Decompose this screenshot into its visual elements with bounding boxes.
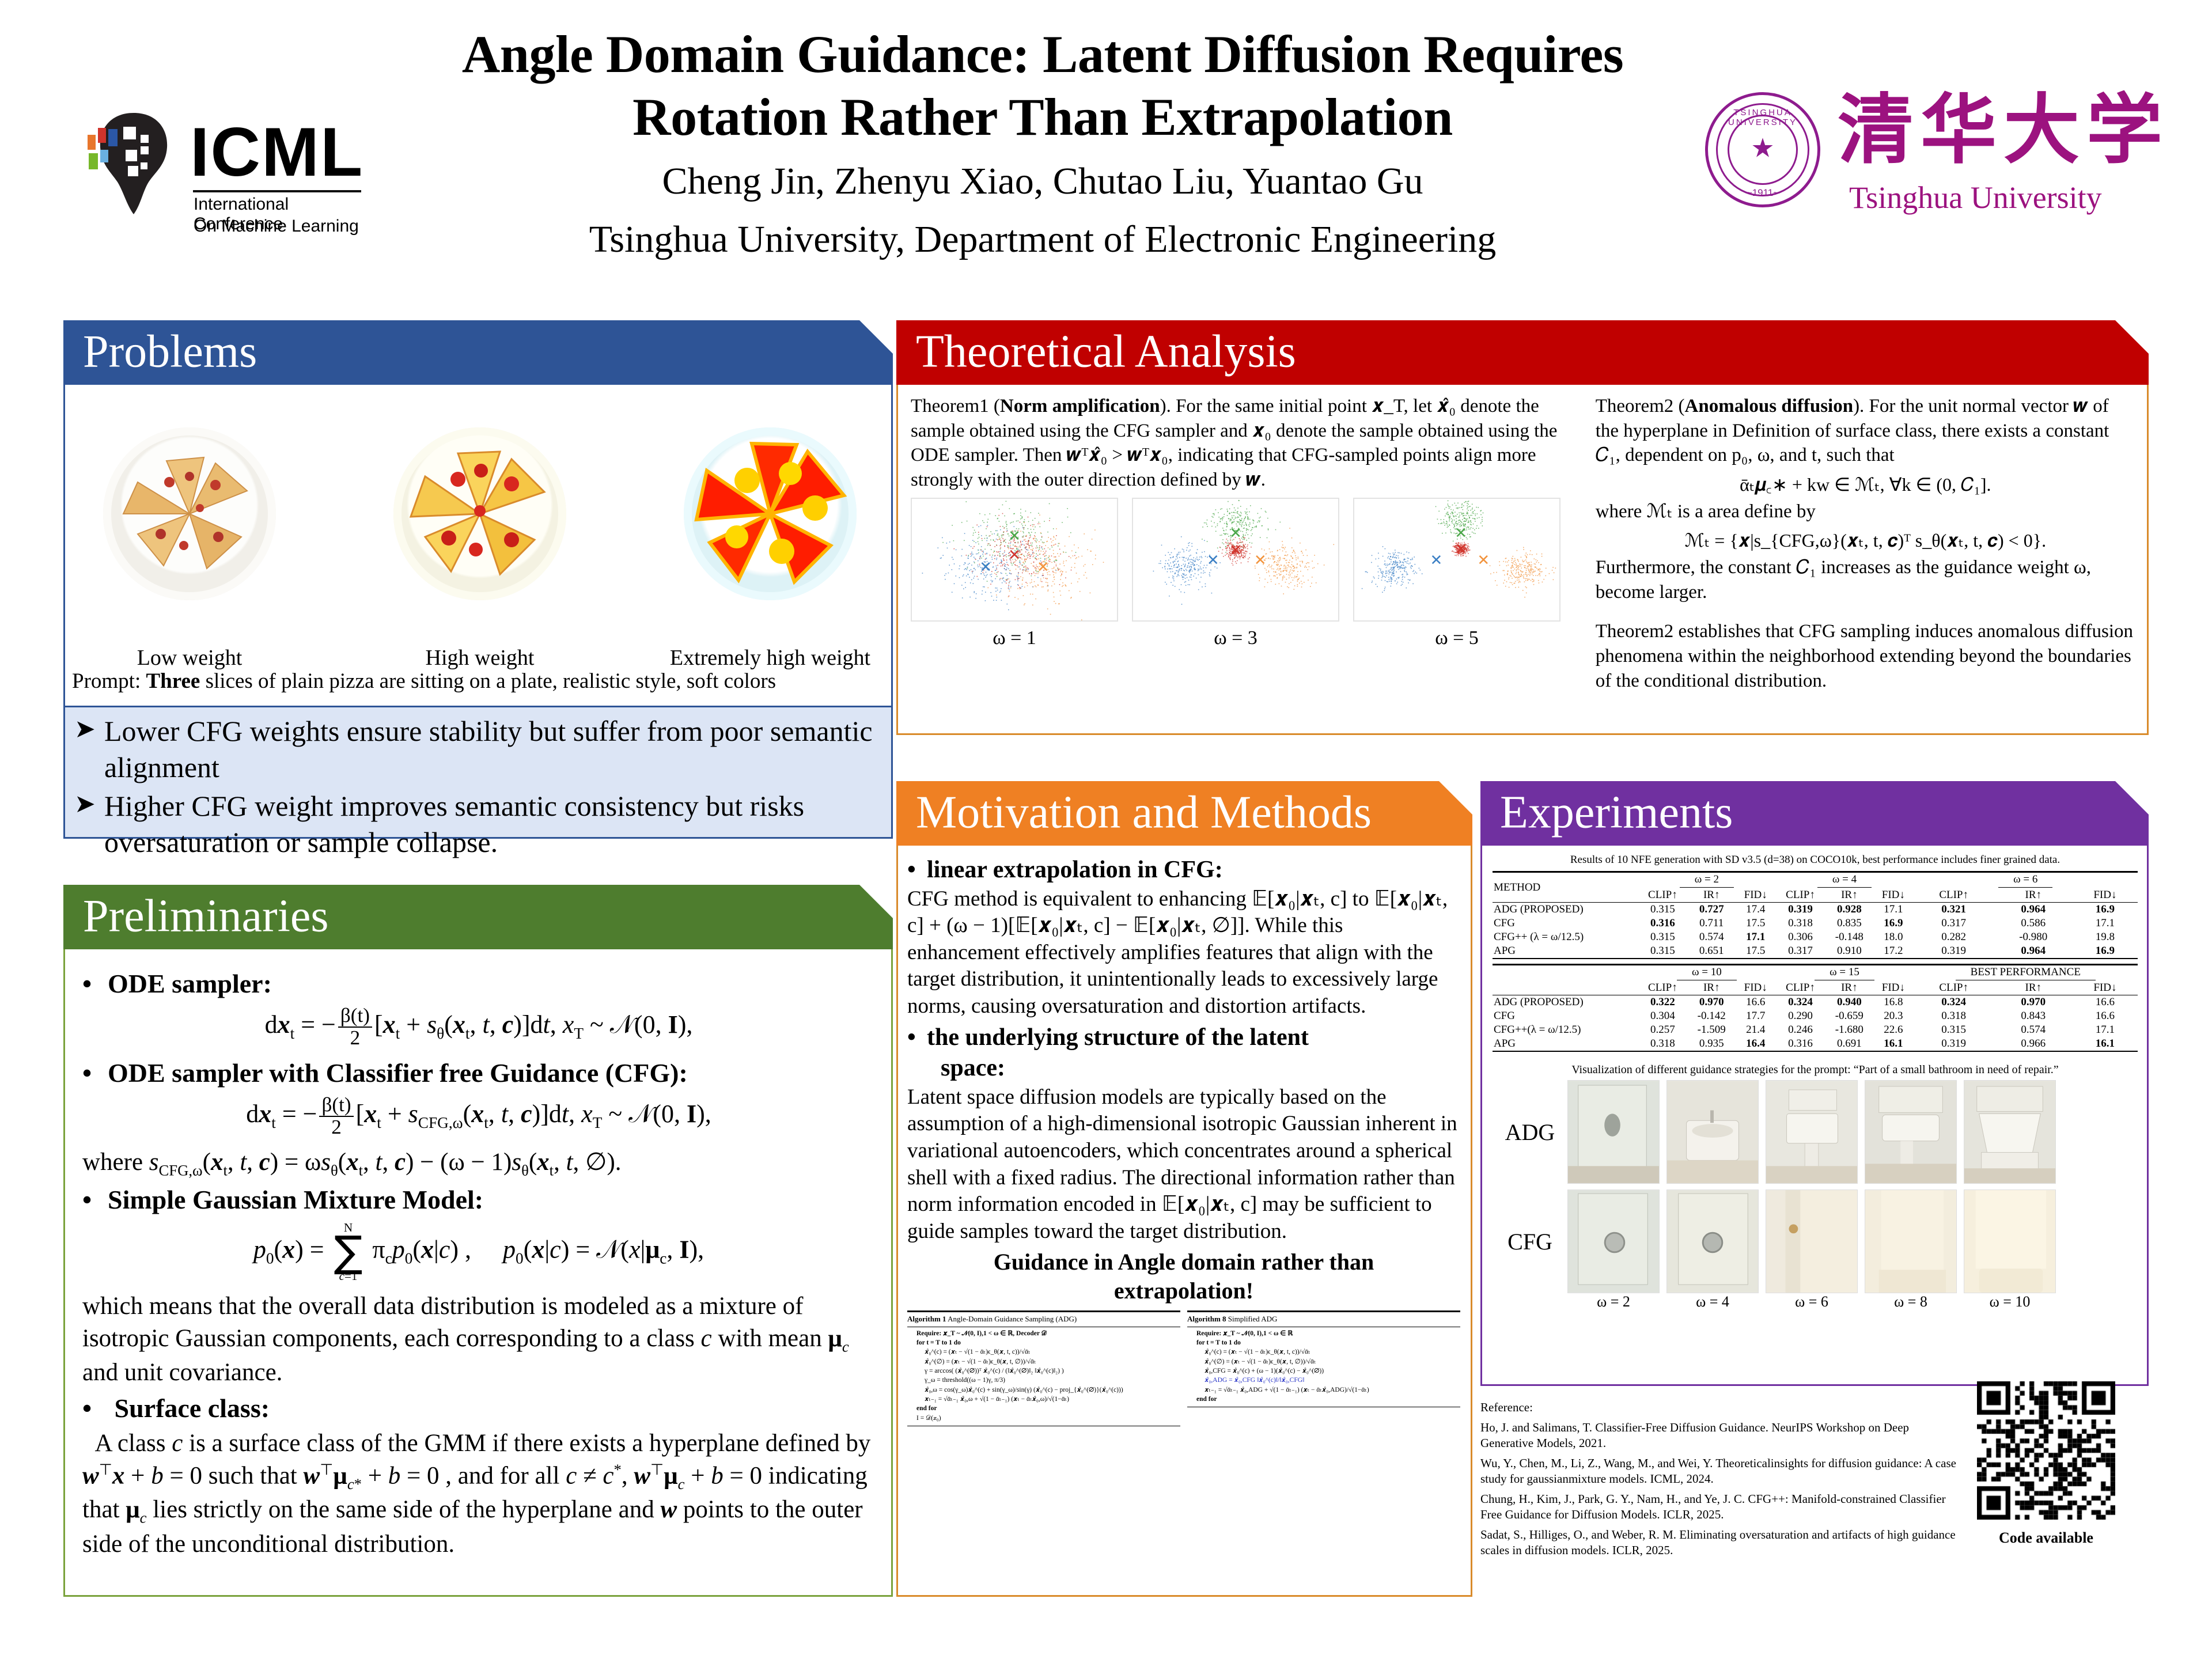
icml-logo: ICML International Conference On Machine…: [81, 109, 369, 219]
scatter-caption-omega-1: ω = 1: [911, 627, 1118, 649]
table-cell-value: 0.711: [1687, 916, 1736, 930]
table-cell-value: 16.6: [1736, 995, 1775, 1010]
qr-code-block[interactable]: Code available: [1977, 1381, 2127, 1547]
list-item: ➤ Lower CFG weights ensure stability but…: [74, 713, 881, 786]
table-cell-method: ADG (PROPOSED): [1493, 903, 1638, 917]
table-row: CFG0.3160.71117.50.3180.83516.90.3170.58…: [1493, 916, 2138, 930]
metric-header: IR↑: [1687, 888, 1736, 903]
theorem2-equation-1: ᾱₜ𝝁꜀∗ + kw ∈ ℳₜ, ∀k ∈ (0, 𝐶₁].: [1596, 474, 2135, 496]
table-cell-value: 16.6: [2073, 995, 2138, 1010]
experiments-header: Experiments: [1480, 781, 2149, 846]
table-cell-value: 0.586: [1994, 916, 2073, 930]
table-cell-value: -1.680: [1825, 1023, 1874, 1037]
experiments-title: Experiments: [1500, 789, 1733, 835]
equation-where-cfg: where sCFG,ω(xt, t, c) = ωsθ(xt, t, c) −…: [82, 1146, 875, 1180]
prelim-b2-label: ODE sampler with Classifier free Guidanc…: [108, 1058, 688, 1088]
metric-header: FID↓: [1736, 888, 1775, 903]
table-cell-value: 0.319: [1775, 903, 1825, 917]
bathroom-visualization-grid: ADGCFGω = 2ω = 4ω = 6ω = 8ω = 10: [1493, 1080, 2138, 1310]
cluster-center-marker-green: ✕: [1455, 525, 1467, 540]
table-cell-value: 0.970: [1994, 995, 2073, 1010]
visualization-caption: Visualization of different guidance stra…: [1493, 1063, 2138, 1077]
table-cell-value: 0.691: [1825, 1037, 1874, 1051]
cluster-center-marker-blue: ✕: [1207, 552, 1219, 567]
table-cell-value: 0.574: [1687, 930, 1736, 944]
theory-right-column: Theorem2 (Anomalous diffusion). For the …: [1588, 385, 2147, 733]
prelim-b4-label: Surface class:: [115, 1393, 270, 1423]
viz-omega-labels: ω = 2ω = 4ω = 6ω = 8ω = 10: [1567, 1293, 2138, 1310]
table-cell-value: 16.1: [2073, 1037, 2138, 1051]
preliminaries-body: •ODE sampler: dxt = −β(t)2[xt + sθ(xt, t…: [63, 949, 893, 1597]
metric-header: FID↓: [2073, 888, 2138, 903]
table-cell-value: 0.317: [1914, 916, 1994, 930]
table-row: APG0.3180.93516.40.3160.69116.10.3190.96…: [1493, 1037, 2138, 1051]
bullet-dot-icon: •: [82, 1057, 108, 1089]
tsinghua-logo: TSINGHUA UNIVERSITY ★ ~1911~ 清华大学 Tsingh…: [1705, 92, 2131, 225]
table-cell-method: CFG: [1493, 916, 1638, 930]
theorem2-conclusion: Theorem2 establishes that CFG sampling i…: [1596, 619, 2135, 693]
table-cell-value: 0.651: [1687, 944, 1736, 959]
theory-title: Theoretical Analysis: [916, 328, 1296, 374]
tsinghua-seal-icon: TSINGHUA UNIVERSITY ★ ~1911~: [1705, 92, 1820, 207]
equation-ode-sampler: dxt = −β(t)2[xt + sθ(xt, t, c)]dt, xT ~ …: [82, 1005, 875, 1049]
table-cell-value: 0.319: [1914, 1037, 1994, 1051]
table-cell-value: 0.727: [1687, 903, 1736, 917]
theorem2-furthermore: Furthermore, the constant 𝐶₁ increases a…: [1596, 555, 2135, 604]
group-header: ω = 2: [1638, 872, 1775, 889]
table-cell-value: 16.8: [1873, 995, 1913, 1010]
theory-body: Theorem1 (Norm amplification). For the s…: [896, 385, 2149, 735]
pizza-caption-high: High weight: [363, 645, 596, 671]
table-cell-value: 16.6: [2073, 1009, 2138, 1023]
bathroom-image-adg-2: [1666, 1080, 1759, 1184]
bathroom-image-cfg-5: [1964, 1190, 2056, 1293]
table-cell-value: 21.4: [1736, 1023, 1775, 1037]
pizza-image-extreme: Extremely high weight: [654, 393, 887, 635]
table-cell-value: 0.246: [1775, 1023, 1825, 1037]
cluster-center-marker-green: ✕: [1008, 528, 1021, 543]
results-table: METHODω = 2ω = 4ω = 6CLIP↑IR↑FID↓CLIP↑IR…: [1493, 871, 2138, 1055]
table-cell-value: 0.910: [1825, 944, 1874, 959]
preliminaries-header: Preliminaries: [63, 885, 893, 949]
viz-omega-label: ω = 8: [1865, 1293, 1957, 1310]
metric-header: FID↓: [2073, 981, 2138, 995]
problems-body: Low weight High weight: [63, 385, 893, 707]
theorem2-bold: Anomalous diffusion: [1685, 396, 1854, 416]
pizza-slices-low: [103, 427, 276, 600]
table-cell-value: 16.9: [2073, 903, 2138, 917]
algorithm-8-box: Algorithm 8 Simplified ADGRequire: 𝒙_T ~…: [1187, 1310, 1460, 1426]
reference-item: Chung, H., Kim, J., Park, G. Y., Nam, H.…: [1480, 1491, 1959, 1522]
motivation-header: Motivation and Methods: [896, 781, 1472, 846]
scatter-plot-omega-3: ✕✕✕✕: [1132, 498, 1339, 622]
table-cell-value: 16.9: [2073, 944, 2138, 959]
experiments-body: Results of 10 NFE generation with SD v3.…: [1480, 846, 2149, 1386]
seal-star-icon: ★: [1751, 135, 1774, 162]
cluster-center-marker-orange: ✕: [1477, 552, 1490, 567]
viz-omega-label: ω = 4: [1666, 1293, 1759, 1310]
cluster-center-marker-red: ✕: [1229, 543, 1242, 558]
table-cell-value: -0.148: [1825, 930, 1874, 944]
pizza-slices-extreme: [684, 427, 857, 600]
viz-row-label-adg: ADG: [1493, 1119, 1567, 1146]
motivation-slogan-2: extrapolation!: [907, 1277, 1460, 1305]
metric-header: IR↑: [1994, 981, 2073, 995]
table-cell-value: 0.257: [1638, 1023, 1687, 1037]
affiliation: Tsinghua University, Department of Elect…: [415, 214, 1671, 264]
prelim-bullet-gmm: •Simple Gaussian Mixture Model:: [82, 1184, 875, 1215]
equation-cfg-sampler: dxt = −β(t)2[xt + sCFG,ω(xt, t, c)]dt, x…: [82, 1094, 875, 1138]
bathroom-image-adg-5: [1964, 1080, 2056, 1184]
seal-ring-text: TSINGHUA UNIVERSITY: [1708, 108, 1817, 127]
table-cell-value: 0.317: [1775, 944, 1825, 959]
pizza-slices-high: [393, 427, 566, 600]
references-label: Reference:: [1480, 1400, 1959, 1415]
table-row: CFG++ (λ = ω/12.5)0.3150.57417.10.306-0.…: [1493, 930, 2138, 944]
table-cell-value: 0.964: [1994, 944, 2073, 959]
table-cell-value: 17.1: [1736, 930, 1775, 944]
theorem2-head: Theorem2 (: [1596, 396, 1685, 416]
icml-wordmark: ICML: [190, 118, 363, 187]
metric-header: FID↓: [1873, 888, 1913, 903]
viz-omega-label: ω = 10: [1964, 1293, 2056, 1310]
group-header: ω = 15: [1775, 965, 1913, 982]
table-cell-value: 0.322: [1638, 995, 1687, 1010]
bathroom-image-cfg-1: [1567, 1190, 1660, 1293]
table-cell-value: 17.2: [1873, 944, 1913, 959]
prelim-paragraph-surface: A class c is a surface class of the GMM …: [82, 1427, 875, 1560]
table-cell-value: 20.3: [1873, 1009, 1913, 1023]
scatter-plot-row: ✕✕✕✕ ω = 1 ✕✕✕✕ ω = 3 ✕✕✕✕ ω = 5: [911, 498, 1576, 649]
scatter-caption-omega-3: ω = 3: [1132, 627, 1339, 649]
reference-item: Wu, Y., Chen, M., Li, Z., Wang, M., and …: [1480, 1456, 1959, 1486]
problems-header: Problems: [63, 320, 893, 385]
cluster-center-marker-red: ✕: [1455, 541, 1467, 556]
table-cell-value: 17.1: [1873, 903, 1913, 917]
table-cell-value: -0.142: [1687, 1009, 1736, 1023]
motivation-bullet-2b: space:: [907, 1054, 1460, 1083]
metric-header: CLIP↑: [1638, 888, 1687, 903]
table-cell-value: 0.315: [1638, 903, 1687, 917]
cluster-center-marker-blue: ✕: [1430, 552, 1442, 567]
tsinghua-chinese-name: 清华大学: [1838, 89, 2169, 172]
prelim-bullet-surface: • Surface class:: [82, 1392, 875, 1424]
metric-header: CLIP↑: [1775, 888, 1825, 903]
motivation-title: Motivation and Methods: [916, 789, 1372, 835]
table-cell-value: 17.1: [2073, 1023, 2138, 1037]
table-cell-value: 0.318: [1638, 1037, 1687, 1051]
viz-row-adg: ADG: [1493, 1080, 2138, 1184]
motivation-paragraph-2: Latent space diffusion models are typica…: [907, 1084, 1460, 1245]
metric-header: IR↑: [1687, 981, 1736, 995]
problems-title: Problems: [83, 328, 257, 374]
prelim-b3-label: Simple Gaussian Mixture Model:: [108, 1185, 483, 1214]
viz-row-label-cfg: CFG: [1493, 1228, 1567, 1255]
reference-item: Sadat, S., Hilliges, O., and Weber, R. M…: [1480, 1527, 1959, 1558]
prompt-bold: Three: [146, 669, 200, 693]
table-cell-value: 0.290: [1775, 1009, 1825, 1023]
bullet-dot-icon: •: [82, 968, 108, 999]
algorithm-row: Algorithm 1 Angle-Domain Guidance Sampli…: [907, 1310, 1460, 1426]
problems-bullet-2: Higher CFG weight improves semantic cons…: [104, 788, 881, 861]
scatter-plot-omega-5: ✕✕✕✕: [1353, 498, 1560, 622]
seal-year: ~1911~: [1708, 187, 1817, 199]
scatter-plot-omega-1: ✕✕✕✕: [911, 498, 1118, 622]
table-row: CFG0.304-0.14217.70.290-0.65920.30.3180.…: [1493, 1009, 2138, 1023]
bullet-dot-icon: •: [82, 1392, 108, 1424]
motivation-bullet-1: •linear extrapolation in CFG:: [907, 856, 1460, 885]
table-cell-value: 17.4: [1736, 903, 1775, 917]
pizza-image-high: High weight: [363, 393, 596, 635]
theory-left-column: Theorem1 (Norm amplification). For the s…: [898, 385, 1588, 733]
table-row: APG0.3150.65117.50.3170.91017.20.3190.96…: [1493, 944, 2138, 959]
group-header: ω = 4: [1775, 872, 1913, 889]
table-cell-value: 0.316: [1775, 1037, 1825, 1051]
table-cell-value: 16.1: [1873, 1037, 1913, 1051]
bathroom-image-cfg-2: [1666, 1190, 1759, 1293]
references-block: Reference: Ho, J. and Salimans, T. Class…: [1480, 1400, 1959, 1563]
group-header: ω = 6: [1914, 872, 2138, 889]
table-cell-value: 17.1: [2073, 916, 2138, 930]
table-cell-value: 0.316: [1638, 916, 1687, 930]
bathroom-image-cfg-3: [1766, 1190, 1858, 1293]
group-header: BEST PERFORMANCE: [1914, 965, 2138, 982]
viz-omega-label: ω = 6: [1766, 1293, 1858, 1310]
table-cell-value: 0.964: [1994, 903, 2073, 917]
pizza-caption-low: Low weight: [73, 645, 306, 671]
pizza-image-low: Low weight: [73, 393, 306, 635]
motivation-b2a-label: the underlying structure of the latent: [927, 1024, 1309, 1051]
bathroom-image-adg-3: [1766, 1080, 1858, 1184]
table-cell-value: 0.835: [1825, 916, 1874, 930]
arrow-bullet-icon: ➤: [74, 788, 104, 820]
metric-header: FID↓: [1736, 981, 1775, 995]
icml-brain-icon: [81, 109, 184, 219]
algorithm-1-box: Algorithm 1 Angle-Domain Guidance Sampli…: [907, 1310, 1180, 1426]
page-title-line2: Rotation Rather Than Extrapolation: [415, 86, 1671, 149]
equation-gmm: p0(x) = N∑c=1 πcp0(x|c) , p0(x|c) = 𝒩(x|…: [82, 1222, 875, 1282]
metric-header: IR↑: [1994, 888, 2073, 903]
viz-omega-label: ω = 2: [1567, 1293, 1660, 1310]
panel-theoretical-analysis: Theoretical Analysis Theorem1 (Norm ampl…: [896, 320, 2149, 735]
panel-problems: Problems: [63, 320, 893, 839]
page-title-line1: Angle Domain Guidance: Latent Diffusion …: [415, 23, 1671, 86]
bullet-dot-icon: •: [907, 856, 927, 885]
theorem-1: Theorem1 (Norm amplification). For the s…: [911, 394, 1576, 492]
cluster-center-marker-blue: ✕: [979, 559, 992, 574]
bathroom-image-adg-1: [1567, 1080, 1660, 1184]
table-cell-value: 0.324: [1775, 995, 1825, 1010]
bathroom-image-cfg-4: [1865, 1190, 1957, 1293]
table-cell-value: 0.321: [1914, 903, 1994, 917]
table-cell-value: 0.318: [1775, 916, 1825, 930]
table-cell-method: ADG (PROPOSED): [1493, 995, 1638, 1010]
table-row: CFG++(λ = ω/12.5)0.257-1.50921.40.246-1.…: [1493, 1023, 2138, 1037]
table-cell-value: 0.315: [1638, 930, 1687, 944]
table-cell-value: 0.282: [1914, 930, 1994, 944]
theorem2-equation-2: ℳₜ = {𝒙|s_{CFG,ω}(𝒙ₜ, t, 𝒄)ᵀ s_θ(𝒙ₜ, t, …: [1596, 529, 2135, 552]
table-cell-value: 17.7: [1736, 1009, 1775, 1023]
table-cell-value: 0.843: [1994, 1009, 2073, 1023]
table-cell-value: 17.5: [1736, 944, 1775, 959]
motivation-slogan-1: Guidance in Angle domain rather than: [907, 1248, 1460, 1276]
panel-experiments: Experiments Results of 10 NFE generation…: [1480, 781, 2149, 1386]
table-cell-value: 0.940: [1825, 995, 1874, 1010]
table-cell-value: 0.574: [1994, 1023, 2073, 1037]
poster-header: ICML International Conference On Machine…: [0, 0, 2212, 300]
prelim-bullet-ode: •ODE sampler:: [82, 968, 875, 999]
table-header-method: METHOD: [1493, 872, 1638, 903]
table-cell-value: 0.306: [1775, 930, 1825, 944]
icml-subtitle-2: On Machine Learning: [194, 217, 359, 236]
table-cell-method: CFG++(λ = ω/12.5): [1493, 1023, 1638, 1037]
table-cell-value: 0.318: [1914, 1009, 1994, 1023]
table-cell-value: 0.319: [1914, 944, 1994, 959]
metric-header: CLIP↑: [1914, 888, 1994, 903]
prelim-b1-label: ODE sampler:: [108, 969, 272, 998]
theorem2-where: where ℳₜ is a area define by: [1596, 499, 2135, 524]
prelim-bullet-cfg: •ODE sampler with Classifier free Guidan…: [82, 1057, 875, 1089]
pizza-image-row: Low weight High weight: [73, 393, 887, 635]
table-cell-value: 17.5: [1736, 916, 1775, 930]
table-cell-value: 0.324: [1914, 995, 1994, 1010]
cluster-center-marker-green: ✕: [1229, 525, 1242, 540]
table-cell-value: 18.0: [1873, 930, 1913, 944]
metric-header: IR↑: [1825, 888, 1874, 903]
tsinghua-english-name: Tsinghua University: [1849, 180, 2102, 215]
metric-header: FID↓: [1873, 981, 1913, 995]
icml-divider: [193, 190, 361, 192]
motivation-body: •linear extrapolation in CFG: CFG method…: [896, 846, 1472, 1597]
reference-item: Ho, J. and Salimans, T. Classifier-Free …: [1480, 1420, 1959, 1450]
table-cell-value: -0.659: [1825, 1009, 1874, 1023]
theory-header: Theoretical Analysis: [896, 320, 2149, 385]
table-cell-value: 0.315: [1638, 944, 1687, 959]
pizza-caption-extreme: Extremely high weight: [654, 645, 887, 671]
table-cell-value: 19.8: [2073, 930, 2138, 944]
qr-code-icon[interactable]: [1977, 1381, 2115, 1520]
table-row: ADG (PROPOSED)0.3150.72717.40.3190.92817…: [1493, 903, 2138, 917]
panel-preliminaries: Preliminaries •ODE sampler: dxt = −β(t)2…: [63, 885, 893, 1597]
table-cell-value: 0.315: [1914, 1023, 1994, 1037]
table-cell-value: 0.935: [1687, 1037, 1736, 1051]
metric-header: CLIP↑: [1775, 981, 1825, 995]
group-header: ω = 10: [1638, 965, 1775, 982]
metric-header: CLIP↑: [1638, 981, 1687, 995]
cluster-center-marker-red: ✕: [1008, 547, 1021, 562]
motivation-bullet-2a: •the underlying structure of the latent: [907, 1024, 1460, 1052]
list-item: ➤ Higher CFG weight improves semantic co…: [74, 788, 881, 861]
prompt-rest: slices of plain pizza are sitting on a p…: [200, 669, 776, 693]
bullet-dot-icon: •: [82, 1184, 108, 1215]
theorem1-head: Theorem1 (: [911, 396, 1000, 416]
table-cell-value: -0.980: [1994, 930, 2073, 944]
metric-header: CLIP↑: [1914, 981, 1994, 995]
prompt-label: Prompt:: [72, 669, 146, 693]
problems-bullet-list: ➤ Lower CFG weights ensure stability but…: [63, 707, 893, 839]
table-cell-method: APG: [1493, 944, 1638, 959]
table-cell-method: CFG: [1493, 1009, 1638, 1023]
bullet-dot-icon: •: [907, 1024, 927, 1052]
table-row: ADG (PROPOSED)0.3220.97016.60.3240.94016…: [1493, 995, 2138, 1010]
viz-row-cfg: CFG: [1493, 1190, 2138, 1293]
pizza-prompt: Prompt: Three slices of plain pizza are …: [72, 669, 885, 694]
panel-motivation-methods: Motivation and Methods •linear extrapola…: [896, 781, 1472, 1597]
table-header-method: [1493, 965, 1638, 995]
authors: Cheng Jin, Zhenyu Xiao, Chutao Liu, Yuan…: [415, 156, 1671, 206]
problems-bullet-1: Lower CFG weights ensure stability but s…: [104, 713, 881, 786]
arrow-bullet-icon: ➤: [74, 713, 104, 745]
cluster-center-marker-orange: ✕: [1037, 559, 1050, 574]
table-cell-value: 22.6: [1873, 1023, 1913, 1037]
table-cell-value: 0.966: [1994, 1037, 2073, 1051]
table-cell-value: 16.4: [1736, 1037, 1775, 1051]
scatter-caption-omega-5: ω = 5: [1353, 627, 1560, 649]
table-cell-value: -1.509: [1687, 1023, 1736, 1037]
prelim-paragraph-gmm: which means that the overall data distri…: [82, 1290, 875, 1389]
bathroom-image-adg-4: [1865, 1080, 1957, 1184]
cluster-center-marker-orange: ✕: [1254, 552, 1267, 567]
table-cell-method: APG: [1493, 1037, 1638, 1051]
table-cell-value: 0.304: [1638, 1009, 1687, 1023]
table-cell-value: 0.970: [1687, 995, 1736, 1010]
table-cell-value: 16.9: [1873, 916, 1913, 930]
theorem1-bold: Norm amplification: [1000, 396, 1160, 416]
motivation-paragraph-1: CFG method is equivalent to enhancing 𝔼[…: [907, 886, 1460, 1020]
theorem-2: Theorem2 (Anomalous diffusion). For the …: [1596, 394, 2135, 468]
metric-header: IR↑: [1825, 981, 1874, 995]
results-table-caption: Results of 10 NFE generation with SD v3.…: [1493, 854, 2138, 866]
qr-caption: Code available: [1977, 1529, 2115, 1547]
title-block: Angle Domain Guidance: Latent Diffusion …: [415, 23, 1671, 264]
table-cell-value: 0.928: [1825, 903, 1874, 917]
motivation-b1-label: linear extrapolation in CFG:: [927, 857, 1223, 883]
table-cell-method: CFG++ (λ = ω/12.5): [1493, 930, 1638, 944]
preliminaries-title: Preliminaries: [83, 893, 329, 939]
